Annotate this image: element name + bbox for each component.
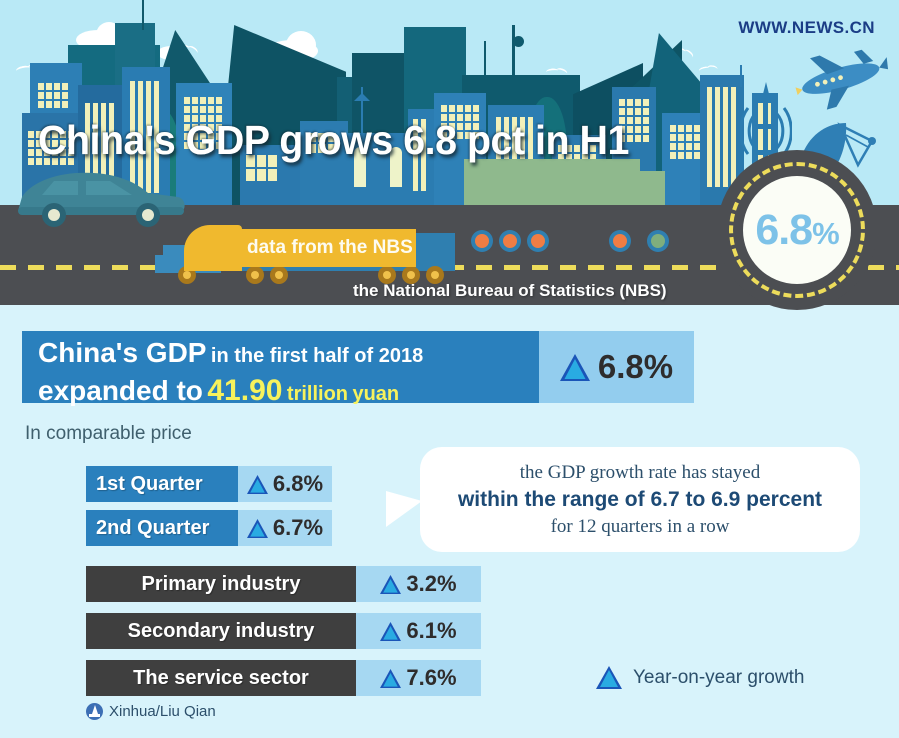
bird-1 — [15, 65, 30, 75]
stripe-windows-14 — [707, 87, 736, 187]
sector-value-cell: 7.6% — [356, 660, 481, 696]
comparable-price-note: In comparable price — [25, 423, 192, 445]
gdp-summary-line-1: China's GDP in the first half of 2018 — [38, 336, 539, 374]
spire-3 — [512, 25, 515, 75]
gdp-growth-value: 6.8% — [598, 348, 673, 386]
bird-5 — [698, 66, 710, 74]
nbs-source-banner: data from the NBS — [238, 229, 416, 267]
growth-range-callout: the GDP growth rate has stayed within th… — [420, 447, 860, 552]
sector-label: The service sector — [86, 660, 356, 696]
sector-label: Secondary industry — [86, 613, 356, 649]
car-icon — [10, 167, 190, 229]
gdp-amount: 41.90 — [207, 374, 282, 407]
gdp-summary-rest: in the first half of 2018 — [211, 345, 423, 367]
infographic-canvas: 6.8% China's GDP grows 6.8 pct in H1 WWW… — [0, 0, 899, 738]
growth-triangle-icon — [247, 475, 268, 494]
quarter-label: 1st Quarter — [86, 466, 238, 502]
gdp-growth-value-box: 6.8% — [539, 331, 694, 403]
badge-inner-circle: 6.8% — [743, 176, 851, 284]
quarter-value: 6.8% — [273, 471, 323, 497]
gdp-unit-trillion: trillion — [287, 383, 348, 405]
sector-value: 7.6% — [406, 665, 456, 691]
nbs-source-banner-label: data from the NBS — [247, 237, 413, 259]
green-truck-wheels — [462, 227, 692, 267]
quarter-label: 2nd Quarter — [86, 510, 238, 546]
callout-line-1: the GDP growth rate has stayed — [520, 460, 760, 486]
callout-line-3: for 12 quarters in a row — [551, 514, 730, 540]
green-truck-body — [464, 159, 640, 205]
gdp-summary-line-2: expanded to 41.90 trillion yuan — [38, 374, 539, 412]
badge-value: 6.8% — [755, 206, 838, 255]
legend: Year-on-year growth — [596, 666, 804, 689]
credit-label: Xinhua/Liu Qian — [109, 703, 216, 720]
gdp-growth-badge: 6.8% — [717, 150, 877, 310]
quarter-row: 1st Quarter 6.8% — [86, 466, 332, 502]
gdp-expanded-label: expanded to — [38, 375, 203, 406]
gdp-unit-yuan: yuan — [352, 383, 399, 405]
sector-row: The service sector 7.6% — [86, 660, 481, 696]
trailer-nose — [184, 225, 242, 271]
spire-1 — [142, 0, 144, 30]
quarter-value-cell: 6.8% — [238, 466, 332, 502]
sector-label: Primary industry — [86, 566, 356, 602]
sector-value: 3.2% — [406, 571, 456, 597]
xinhua-logo-icon — [86, 703, 103, 720]
window-grid-1 — [38, 83, 68, 108]
sector-row: Primary industry 3.2% — [86, 566, 481, 602]
spire-4 — [513, 36, 524, 47]
callout-tail — [386, 491, 422, 527]
site-watermark: WWW.NEWS.CN — [738, 18, 875, 38]
growth-triangle-icon — [380, 575, 401, 594]
gdp-summary-strong: China's GDP — [38, 337, 206, 368]
green-truck-cab — [625, 171, 665, 205]
spire-2 — [484, 41, 486, 75]
sector-value-cell: 3.2% — [356, 566, 481, 602]
bird-3 — [546, 68, 558, 75]
growth-triangle-icon — [596, 666, 622, 689]
quarter-value: 6.7% — [273, 515, 323, 541]
quarter-value-cell: 6.7% — [238, 510, 332, 546]
callout-line-2: within the range of 6.7 to 6.9 percent — [458, 486, 822, 514]
sector-value-cell: 6.1% — [356, 613, 481, 649]
sector-row: Secondary industry 6.1% — [86, 613, 481, 649]
nbs-source-full: the National Bureau of Statistics (NBS) — [353, 281, 667, 301]
quarter-row: 2nd Quarter 6.7% — [86, 510, 332, 546]
sector-value: 6.1% — [406, 618, 456, 644]
growth-triangle-icon — [560, 354, 590, 381]
gdp-summary-panel: China's GDP in the first half of 2018 ex… — [22, 331, 539, 403]
growth-triangle-icon — [380, 622, 401, 641]
page-title: China's GDP grows 6.8 pct in H1 — [38, 117, 629, 164]
growth-triangle-icon — [380, 669, 401, 688]
growth-triangle-icon — [247, 519, 268, 538]
legend-label: Year-on-year growth — [633, 667, 804, 689]
airplane-icon — [795, 48, 891, 110]
credit: Xinhua/Liu Qian — [86, 703, 216, 720]
